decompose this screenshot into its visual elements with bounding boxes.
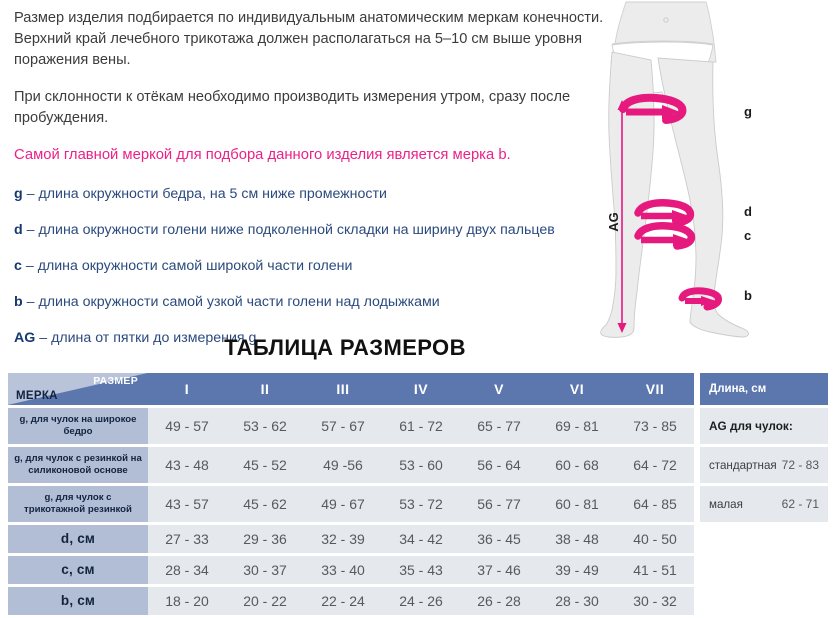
- cell-value: 60 - 68: [538, 447, 616, 483]
- cell-value: 37 - 46: [460, 556, 538, 584]
- cell-value: 35 - 43: [382, 556, 460, 584]
- cell-value: 64 - 72: [616, 447, 694, 483]
- cell-value: 34 - 42: [382, 525, 460, 553]
- definition-dash-c: –: [26, 258, 34, 274]
- row-label-d: d, см: [8, 525, 148, 553]
- cell-value: 36 - 45: [460, 525, 538, 553]
- cell-value: 57 - 67: [304, 408, 382, 444]
- cell-value: 53 - 62: [226, 408, 304, 444]
- definition-item-c: c – длина окружности самой широкой части…: [14, 256, 606, 276]
- cell-value: 53 - 72: [382, 486, 460, 522]
- length-row-title: AG для чулок:: [700, 408, 828, 444]
- cell-value: 56 - 77: [460, 486, 538, 522]
- length-row-name: малая: [709, 498, 782, 511]
- definition-text-b: длина окружности самой узкой части голен…: [38, 294, 439, 310]
- row-label-g-silicone: g, для чулок с резинкой на силиконовой о…: [8, 447, 148, 483]
- corner-size-label: РАЗМЕР: [93, 375, 138, 387]
- column-header-7: VII: [616, 373, 694, 405]
- cell-value: 30 - 32: [616, 587, 694, 615]
- row-label-g-wide: g, для чулок на широкое бедро: [8, 408, 148, 444]
- table-row: d, см 27 - 33 29 - 36 32 - 39 34 - 42 36…: [8, 525, 694, 553]
- table-header-row: РАЗМЕР МЕРКА I II III IV V VI VII: [8, 373, 694, 405]
- cell-value: 45 - 62: [226, 486, 304, 522]
- cell-value: 49 -56: [304, 447, 382, 483]
- column-header-5: V: [460, 373, 538, 405]
- cell-value: 69 - 81: [538, 408, 616, 444]
- definition-item-d: d – длина окружности голени ниже подколе…: [14, 220, 606, 240]
- cell-value: 53 - 60: [382, 447, 460, 483]
- cell-value: 26 - 28: [460, 587, 538, 615]
- cell-value: 41 - 51: [616, 556, 694, 584]
- intro-paragraph-2: При склонности к отёкам необходимо произ…: [14, 87, 606, 129]
- top-section: Размер изделия подбирается по индивидуал…: [0, 0, 836, 330]
- length-row-small: малая 62 - 71: [700, 486, 828, 522]
- column-header-2: II: [226, 373, 304, 405]
- cell-value: 56 - 64: [460, 447, 538, 483]
- column-header-3: III: [304, 373, 382, 405]
- cell-value: 49 - 67: [304, 486, 382, 522]
- instructions-column: Размер изделия подбирается по индивидуал…: [14, 8, 606, 364]
- cell-value: 43 - 48: [148, 447, 226, 483]
- table-column-headers: I II III IV V VI VII: [148, 373, 694, 405]
- figure-label-c: c: [744, 228, 751, 243]
- column-header-1: I: [148, 373, 226, 405]
- length-row-standard: стандартная 72 - 83: [700, 447, 828, 483]
- intro-paragraph-1: Размер изделия подбирается по индивидуал…: [14, 8, 606, 71]
- row-label-b: b, см: [8, 587, 148, 615]
- length-row-name: стандартная: [709, 459, 782, 472]
- cell-value: 22 - 24: [304, 587, 382, 615]
- definition-key-g: g: [14, 186, 23, 202]
- female-body-silhouette: [601, 2, 749, 337]
- measure-band-c: [638, 226, 691, 246]
- cell-value: 39 - 49: [538, 556, 616, 584]
- cell-value: 65 - 77: [460, 408, 538, 444]
- cell-value: 40 - 50: [616, 525, 694, 553]
- cell-value: 29 - 36: [226, 525, 304, 553]
- definition-key-b: b: [14, 294, 23, 310]
- table-row: g, для чулок с резинкой на силиконовой о…: [8, 447, 694, 483]
- table-row: g, для чулок с трикотажной резинкой 43 -…: [8, 486, 694, 522]
- cell-value: 20 - 22: [226, 587, 304, 615]
- table-row: g, для чулок на широкое бедро 49 - 57 53…: [8, 408, 694, 444]
- length-row-value: 62 - 71: [782, 497, 819, 511]
- cell-value: 28 - 30: [538, 587, 616, 615]
- cell-value: 61 - 72: [382, 408, 460, 444]
- measurement-definition-list: g – длина окружности бедра, на 5 см ниже…: [14, 184, 606, 348]
- ag-dimension-label: AG: [606, 212, 621, 232]
- cell-value: 18 - 20: [148, 587, 226, 615]
- definition-dash-g: –: [27, 186, 35, 202]
- cell-value: 27 - 33: [148, 525, 226, 553]
- definition-text-g: длина окружности бедра, на 5 см ниже про…: [38, 186, 386, 202]
- definition-dash-d: –: [27, 222, 35, 238]
- cell-value: 73 - 85: [616, 408, 694, 444]
- figure-label-d: d: [744, 204, 752, 219]
- definition-text-c: длина окружности самой широкой части гол…: [38, 258, 353, 274]
- figure-label-g: g: [744, 104, 752, 119]
- corner-measure-label: МЕРКА: [16, 390, 58, 402]
- cell-value: 38 - 48: [538, 525, 616, 553]
- definition-item-b: b – длина окружности самой узкой части г…: [14, 292, 606, 312]
- definition-dash-b: –: [27, 294, 35, 310]
- length-panel-header: Длина, см: [700, 373, 828, 405]
- length-panel: Длина, см AG для чулок: стандартная 72 -…: [700, 373, 828, 525]
- length-row-name: AG для чулок:: [709, 419, 819, 433]
- definition-key-c: c: [14, 258, 22, 274]
- intro-highlight: Самой главной меркой для подбора данного…: [14, 145, 606, 166]
- cell-value: 49 - 57: [148, 408, 226, 444]
- cell-value: 45 - 52: [226, 447, 304, 483]
- cell-value: 28 - 34: [148, 556, 226, 584]
- cell-value: 32 - 39: [304, 525, 382, 553]
- page-title: ТАБЛИЦА РАЗМЕРОВ: [0, 335, 690, 361]
- table-corner-header: РАЗМЕР МЕРКА: [8, 373, 148, 405]
- cell-value: 60 - 81: [538, 486, 616, 522]
- cell-value: 30 - 37: [226, 556, 304, 584]
- cell-value: 24 - 26: [382, 587, 460, 615]
- definition-key-d: d: [14, 222, 23, 238]
- table-row: b, см 18 - 20 20 - 22 22 - 24 24 - 26 26…: [8, 587, 694, 615]
- definition-text-d: длина окружности голени ниже подколенной…: [38, 222, 554, 238]
- size-table: РАЗМЕР МЕРКА I II III IV V VI VII g, для…: [8, 373, 694, 618]
- row-label-g-knit: g, для чулок с трикотажной резинкой: [8, 486, 148, 522]
- leg-measurement-diagram: AG g d c: [596, 0, 836, 345]
- definition-item-g: g – длина окружности бедра, на 5 см ниже…: [14, 184, 606, 204]
- length-row-value: 72 - 83: [782, 458, 819, 472]
- figure-label-b: b: [744, 288, 752, 303]
- cell-value: 43 - 57: [148, 486, 226, 522]
- column-header-6: VI: [538, 373, 616, 405]
- cell-value: 64 - 85: [616, 486, 694, 522]
- table-row: c, см 28 - 34 30 - 37 33 - 40 35 - 43 37…: [8, 556, 694, 584]
- cell-value: 33 - 40: [304, 556, 382, 584]
- row-label-c: c, см: [8, 556, 148, 584]
- column-header-4: IV: [382, 373, 460, 405]
